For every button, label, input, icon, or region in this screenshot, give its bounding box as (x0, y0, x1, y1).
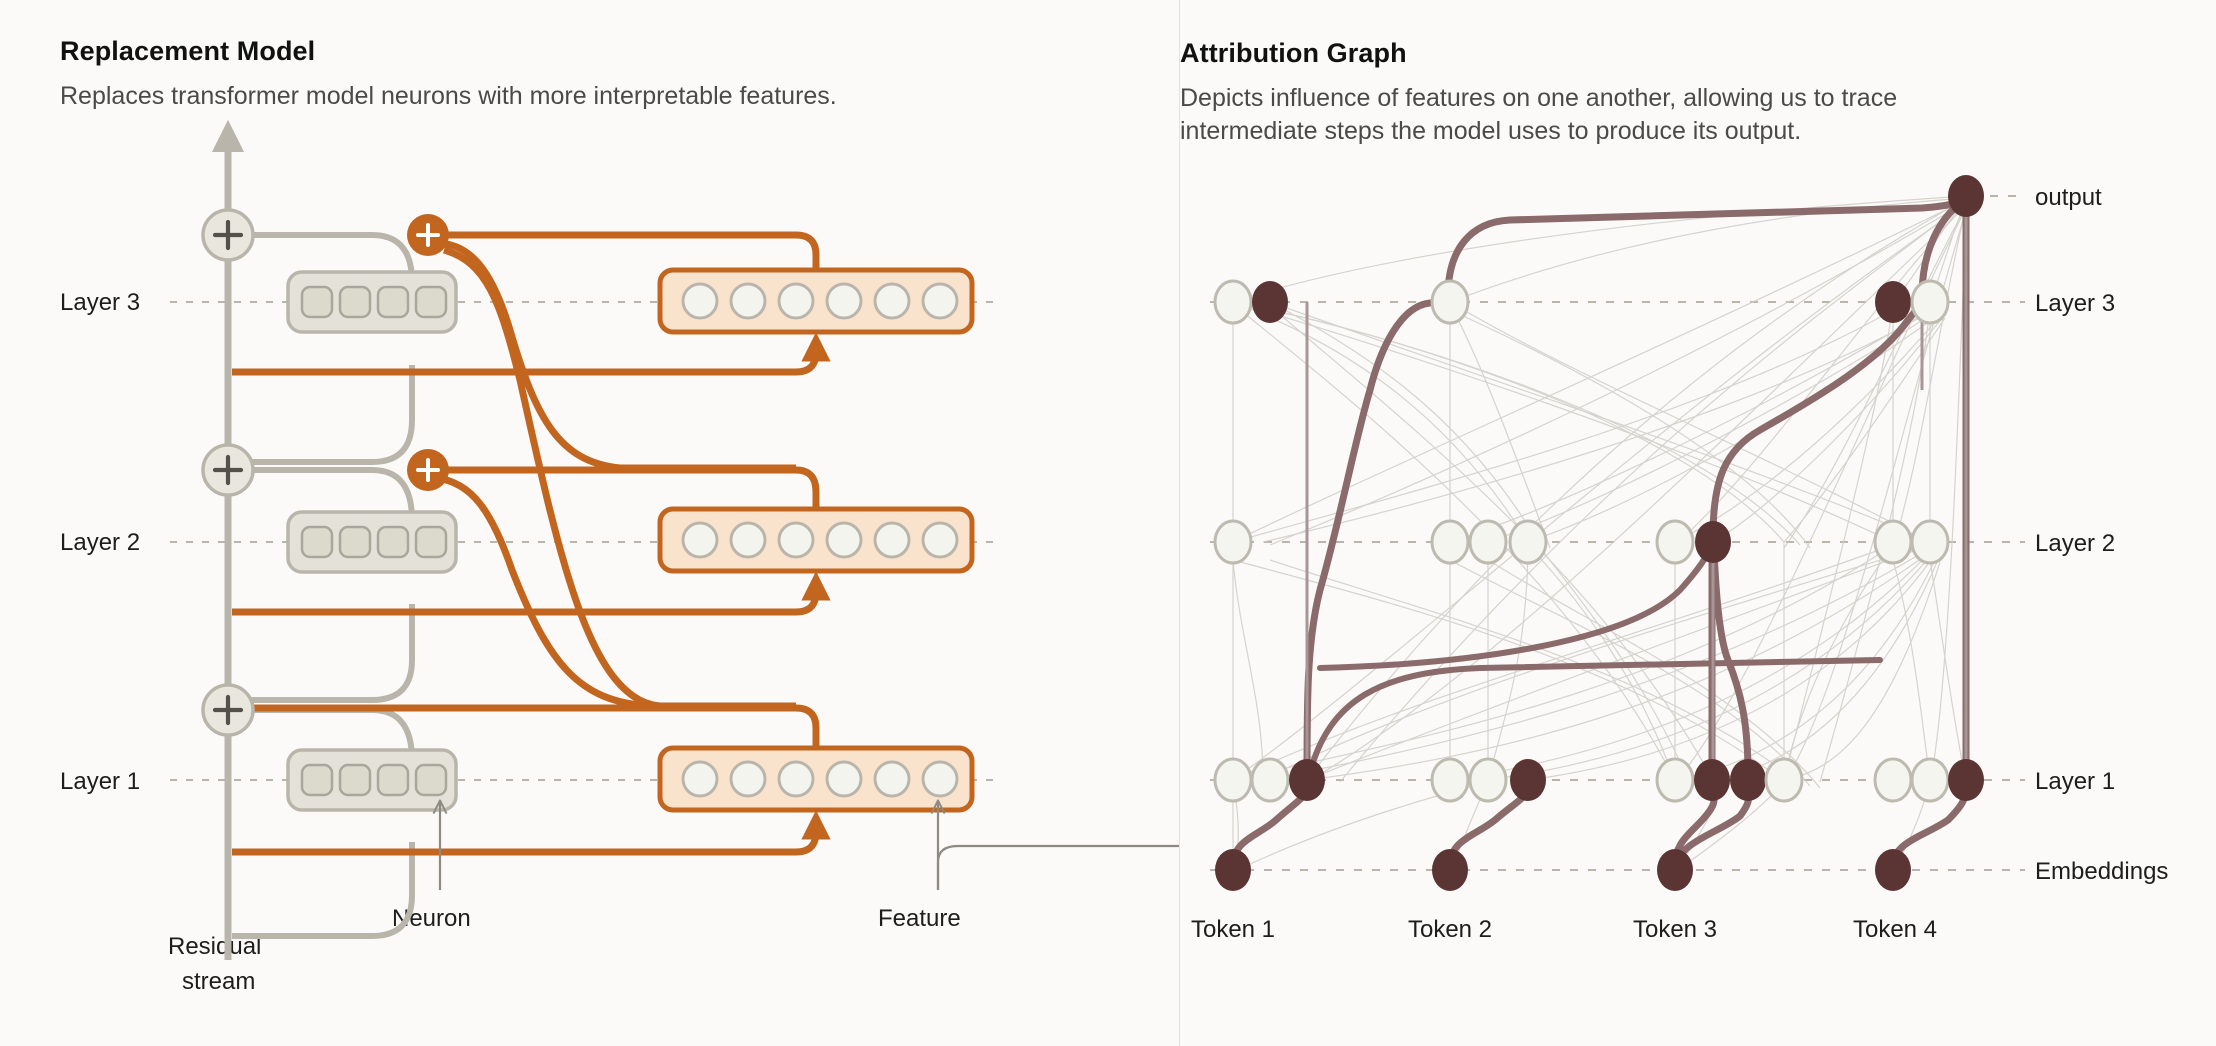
neuron-wiring-layer-3 (228, 235, 412, 462)
graph-node-layer2-b[interactable] (1432, 521, 1468, 563)
feature-plus-node-layer-3 (407, 214, 449, 256)
graph-node-layer1-k[interactable] (1875, 759, 1911, 801)
feature-box-layer-1 (660, 748, 972, 810)
residual-plus-node-layer-1 (203, 685, 253, 735)
graph-node-layer2-f[interactable] (1695, 521, 1731, 563)
feature-plus-node-layer-2 (407, 449, 449, 491)
feature-box-layer-3 (660, 270, 972, 332)
graph-node-output[interactable] (1948, 175, 1984, 217)
graph-node-layer2-e[interactable] (1657, 521, 1693, 563)
graph-node-layer1-d[interactable] (1432, 759, 1468, 801)
graph-node-layer3-e[interactable] (1912, 281, 1948, 323)
graph-node-layer1-l[interactable] (1912, 759, 1948, 801)
graph-node-layer2-a[interactable] (1215, 521, 1251, 563)
graph-node-layer3-c[interactable] (1432, 281, 1468, 323)
graph-node-layer3-d[interactable] (1875, 281, 1911, 323)
neuron-wiring-layer-2 (228, 470, 412, 700)
residual-plus-node-layer-3 (203, 210, 253, 260)
replacement-model-panel: Replacement Model Replaces transformer m… (0, 0, 1180, 1046)
graph-node-embeddings-token1[interactable] (1215, 849, 1251, 891)
graph-node-layer3-b[interactable] (1252, 281, 1288, 323)
graph-node-layer2-d[interactable] (1510, 521, 1546, 563)
graph-node-layer1-a[interactable] (1215, 759, 1251, 801)
graph-node-layer1-m[interactable] (1948, 759, 1984, 801)
graph-node-layer1-j[interactable] (1766, 759, 1802, 801)
residual-plus-node-layer-2 (203, 445, 253, 495)
replacement-model-svg (0, 0, 1180, 1046)
graph-node-layer2-c[interactable] (1470, 521, 1506, 563)
attribution-graph-svg (1180, 0, 2216, 1046)
graph-node-layer1-e[interactable] (1470, 759, 1506, 801)
neuron-wiring-layer-1 (228, 710, 412, 936)
graph-node-layer1-h[interactable] (1694, 759, 1730, 801)
graph-node-layer2-h[interactable] (1912, 521, 1948, 563)
graph-node-layer1-c[interactable] (1289, 759, 1325, 801)
neuron-box-layer-2 (288, 512, 456, 572)
feature-to-graph-leader (938, 846, 1180, 890)
graph-node-layer2-g[interactable] (1875, 521, 1911, 563)
graph-node-layer1-i[interactable] (1730, 759, 1766, 801)
graph-node-embeddings-token3[interactable] (1657, 849, 1693, 891)
neuron-box-layer-3 (288, 272, 456, 332)
graph-node-embeddings-token2[interactable] (1432, 849, 1468, 891)
graph-node-layer1-b[interactable] (1252, 759, 1288, 801)
neuron-box-layer-1 (288, 750, 456, 810)
graph-node-layer1-f[interactable] (1510, 759, 1546, 801)
graph-node-embeddings-token4[interactable] (1875, 849, 1911, 891)
graph-node-layer3-a[interactable] (1215, 281, 1251, 323)
feature-box-layer-2 (660, 509, 972, 571)
attribution-graph-panel: Attribution Graph Depicts influence of f… (1180, 0, 2216, 1046)
graph-faint-edges (1233, 196, 1966, 872)
graph-node-layer1-g[interactable] (1657, 759, 1693, 801)
